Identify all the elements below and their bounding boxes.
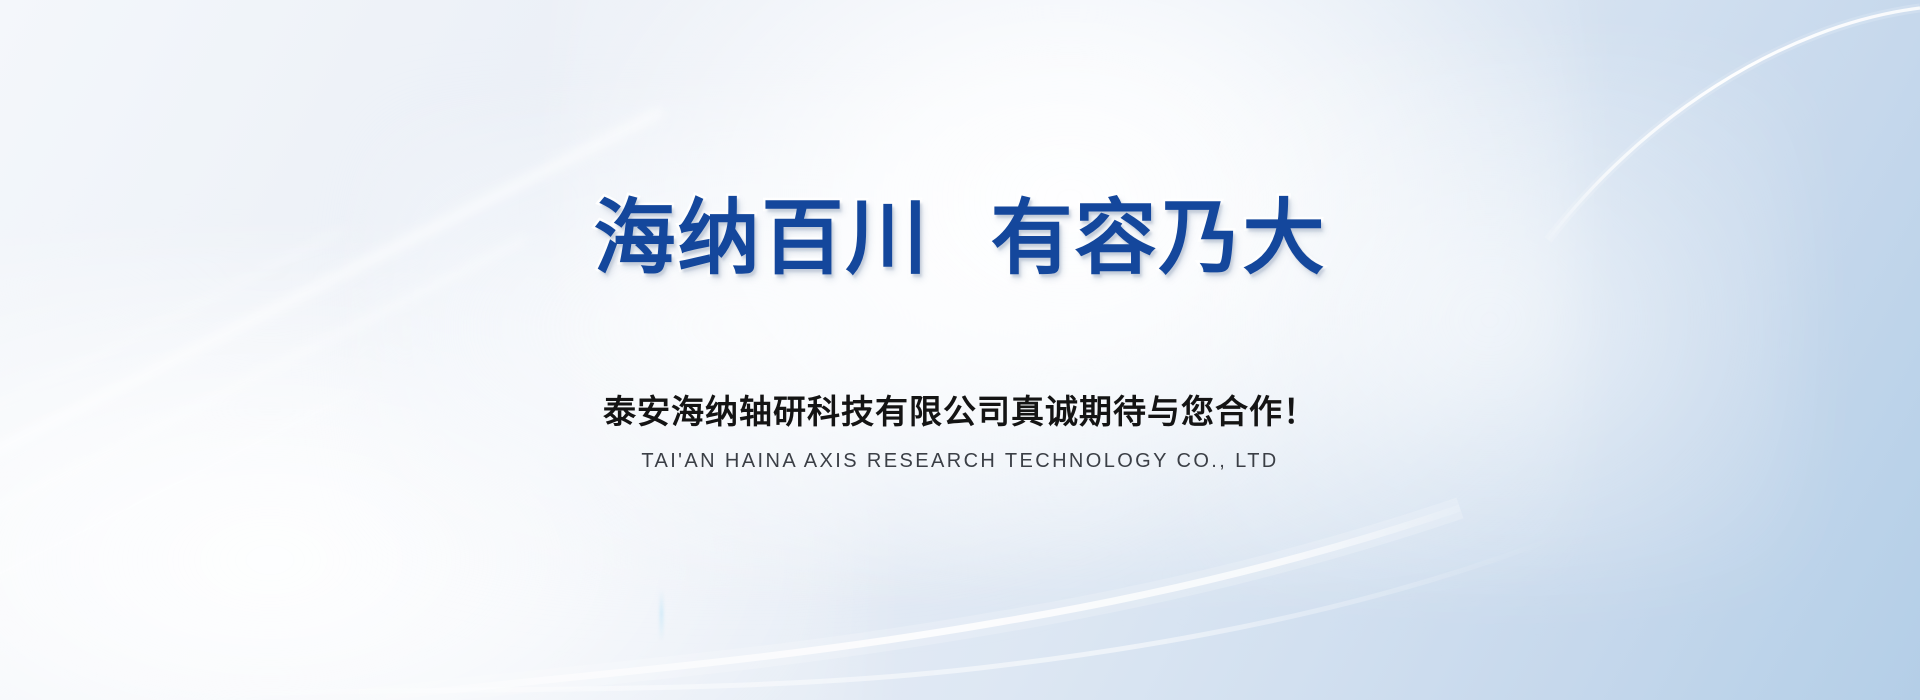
page-title: 海纳百川 有容乃大	[0, 196, 1920, 282]
hero-banner: 海纳百川 有容乃大 泰安海纳轴研科技有限公司真诚期待与您合作！ TAI'AN H…	[0, 0, 1920, 700]
company-name-en: TAI'AN HAINA AXIS RESEARCH TECHNOLOGY CO…	[0, 450, 1920, 473]
banner-content: 海纳百川 有容乃大 泰安海纳轴研科技有限公司真诚期待与您合作！ TAI'AN H…	[0, 0, 1920, 700]
company-tagline-cn: 泰安海纳轴研科技有限公司真诚期待与您合作！	[0, 392, 1920, 432]
